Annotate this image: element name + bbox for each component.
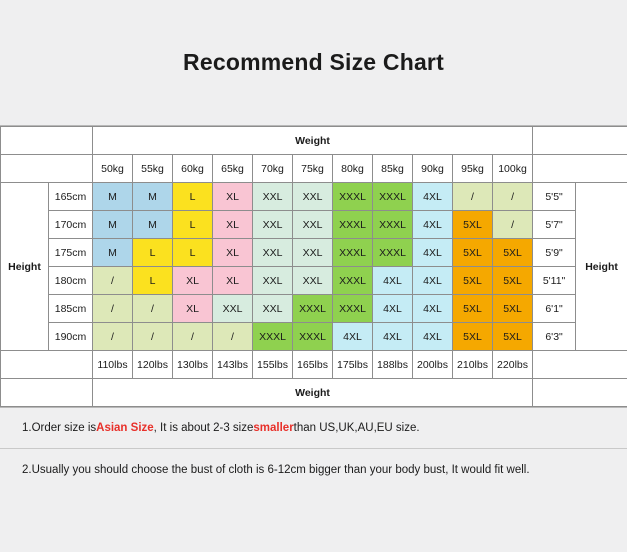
size-cell[interactable]: 5XL [453, 323, 493, 351]
size-cell[interactable]: 4XL [413, 183, 453, 211]
weight-header-bottom: Weight [93, 379, 533, 407]
weight-lbs-label: 155lbs [253, 351, 293, 379]
size-cell[interactable]: XXL [293, 267, 333, 295]
spacer-right-top [533, 127, 627, 155]
size-cell[interactable]: XXL [293, 211, 333, 239]
weight-lbs-label: 188lbs [373, 351, 413, 379]
height-cm-label: 170cm [49, 211, 93, 239]
note-item: 2. Usually you should choose the bust of… [0, 449, 627, 490]
size-cell[interactable]: XL [213, 183, 253, 211]
size-cell[interactable]: XL [213, 211, 253, 239]
size-cell[interactable]: 5XL [493, 323, 533, 351]
size-cell[interactable]: 4XL [373, 323, 413, 351]
size-cell[interactable]: XXXL [373, 183, 413, 211]
weight-lbs-label: 220lbs [493, 351, 533, 379]
size-cell[interactable]: M [93, 211, 133, 239]
weight-kg-label: 70kg [253, 155, 293, 183]
weight-footer-row: Weight [1, 379, 627, 407]
weight-lbs-label: 210lbs [453, 351, 493, 379]
size-cell[interactable]: L [173, 239, 213, 267]
weight-header-row: Weight [1, 127, 627, 155]
note-highlight: smaller [253, 422, 293, 434]
size-cell[interactable]: / [133, 295, 173, 323]
note-text: than US,UK,AU,EU size. [294, 422, 420, 434]
note-index: 1. [22, 422, 32, 434]
size-cell[interactable]: L [133, 267, 173, 295]
height-ft-label: 5'7" [533, 211, 576, 239]
size-cell[interactable]: / [93, 295, 133, 323]
height-cm-label: 185cm [49, 295, 93, 323]
size-cell[interactable]: / [493, 183, 533, 211]
size-cell[interactable]: XL [173, 267, 213, 295]
spacer-left-kg [1, 155, 93, 183]
table-row: 170cmMMLXLXXLXXLXXXLXXXL4XL5XL/5'7" [1, 211, 627, 239]
height-axis-label-right: Height [576, 183, 627, 351]
size-cell[interactable]: / [213, 323, 253, 351]
note-text: , It is about 2-3 size [154, 422, 254, 434]
weight-kg-label: 85kg [373, 155, 413, 183]
size-cell[interactable]: M [93, 183, 133, 211]
height-axis-label-left: Height [1, 183, 49, 351]
size-cell[interactable]: XXXL [293, 295, 333, 323]
weight-kg-label: 50kg [93, 155, 133, 183]
size-cell[interactable]: M [133, 183, 173, 211]
weight-lbs-label: 165lbs [293, 351, 333, 379]
size-cell[interactable]: XXL [253, 267, 293, 295]
spacer-right-lbs [533, 351, 627, 379]
height-ft-label: 5'9" [533, 239, 576, 267]
note-text: Usually you should choose the bust of cl… [32, 464, 530, 476]
title-band: Recommend Size Chart [0, 0, 627, 126]
size-cell[interactable]: L [173, 211, 213, 239]
size-cell[interactable]: / [493, 211, 533, 239]
size-cell[interactable]: XXL [253, 295, 293, 323]
table-row: Height165cmMMLXLXXLXXLXXXLXXXL4XL//5'5"H… [1, 183, 627, 211]
weight-kg-label: 60kg [173, 155, 213, 183]
height-cm-label: 175cm [49, 239, 93, 267]
table-row: 185cm//XLXXLXXLXXXLXXXL4XL4XL5XL5XL6'1" [1, 295, 627, 323]
size-cell[interactable]: L [133, 239, 173, 267]
size-cell[interactable]: / [93, 323, 133, 351]
size-cell[interactable]: 4XL [413, 267, 453, 295]
size-cell[interactable]: XXL [253, 211, 293, 239]
table-row: 175cmMLLXLXXLXXLXXXLXXXL4XL5XL5XL5'9" [1, 239, 627, 267]
size-cell[interactable]: 5XL [453, 239, 493, 267]
size-cell[interactable]: XXXL [373, 239, 413, 267]
note-highlight: Asian Size [96, 422, 154, 434]
weight-lbs-label: 200lbs [413, 351, 453, 379]
weight-kg-label: 80kg [333, 155, 373, 183]
table-row: 190cm////XXXLXXXL4XL4XL4XL5XL5XL6'3" [1, 323, 627, 351]
height-cm-label: 190cm [49, 323, 93, 351]
height-ft-label: 6'1" [533, 295, 576, 323]
spacer-left-top [1, 127, 93, 155]
weight-lbs-label: 120lbs [133, 351, 173, 379]
size-cell[interactable]: XXXL [333, 183, 373, 211]
spacer-right-kg [533, 155, 627, 183]
table-row: 180cm/LXLXLXXLXXLXXXL4XL4XL5XL5XL5'11" [1, 267, 627, 295]
size-cell[interactable]: / [173, 323, 213, 351]
size-chart-body: Weight50kg55kg60kg65kg70kg75kg80kg85kg90… [1, 127, 627, 407]
note-item: 1.Order size is Asian Size, It is about … [0, 408, 627, 449]
weight-lbs-label: 175lbs [333, 351, 373, 379]
footer-notes: 1.Order size is Asian Size, It is about … [0, 408, 627, 490]
size-cell[interactable]: / [133, 323, 173, 351]
size-cell[interactable]: 4XL [413, 211, 453, 239]
size-cell[interactable]: XXXL [333, 295, 373, 323]
size-cell[interactable]: XXL [293, 239, 333, 267]
weight-kg-label: 100kg [493, 155, 533, 183]
weight-kg-row: 50kg55kg60kg65kg70kg75kg80kg85kg90kg95kg… [1, 155, 627, 183]
size-cell[interactable]: 5XL [453, 211, 493, 239]
weight-lbs-row: 110lbs120lbs130lbs143lbs155lbs165lbs175l… [1, 351, 627, 379]
height-ft-label: 5'5" [533, 183, 576, 211]
size-cell[interactable]: XXXL [253, 323, 293, 351]
weight-kg-label: 75kg [293, 155, 333, 183]
weight-kg-label: 65kg [213, 155, 253, 183]
weight-kg-label: 55kg [133, 155, 173, 183]
weight-lbs-label: 143lbs [213, 351, 253, 379]
spacer-right-bottom [533, 379, 627, 407]
size-cell[interactable]: XL [213, 239, 253, 267]
height-cm-label: 180cm [49, 267, 93, 295]
size-chart-table-wrapper: Weight50kg55kg60kg65kg70kg75kg80kg85kg90… [0, 126, 627, 408]
height-cm-label: 165cm [49, 183, 93, 211]
size-cell[interactable]: XXXL [333, 211, 373, 239]
size-cell[interactable]: XXXL [333, 239, 373, 267]
size-cell[interactable]: 4XL [413, 323, 453, 351]
size-cell[interactable]: XXL [213, 295, 253, 323]
size-cell[interactable]: 4XL [373, 267, 413, 295]
note-index: 2. [22, 464, 32, 476]
size-cell[interactable]: 4XL [373, 295, 413, 323]
size-cell[interactable]: XXL [253, 239, 293, 267]
size-cell[interactable]: XXXL [333, 267, 373, 295]
size-cell[interactable]: / [453, 183, 493, 211]
note-text: Order size is [32, 422, 97, 434]
size-cell[interactable]: 4XL [413, 239, 453, 267]
page-title: Recommend Size Chart [183, 49, 444, 76]
size-cell[interactable]: 4XL [333, 323, 373, 351]
weight-lbs-label: 110lbs [93, 351, 133, 379]
weight-lbs-label: 130lbs [173, 351, 213, 379]
size-cell[interactable]: M [93, 239, 133, 267]
size-cell[interactable]: XXL [293, 183, 333, 211]
size-cell[interactable]: XL [213, 267, 253, 295]
size-cell[interactable]: 5XL [493, 295, 533, 323]
height-ft-label: 5'11" [533, 267, 576, 295]
size-chart-table: Weight50kg55kg60kg65kg70kg75kg80kg85kg90… [0, 126, 627, 407]
spacer-left-bottom [1, 379, 93, 407]
size-cell[interactable]: XXL [253, 183, 293, 211]
size-cell[interactable]: 5XL [453, 267, 493, 295]
weight-header-top: Weight [93, 127, 533, 155]
size-cell[interactable]: 5XL [453, 295, 493, 323]
size-cell[interactable]: / [93, 267, 133, 295]
size-cell[interactable]: XXXL [293, 323, 333, 351]
weight-kg-label: 95kg [453, 155, 493, 183]
weight-kg-label: 90kg [413, 155, 453, 183]
size-cell[interactable]: L [173, 183, 213, 211]
size-chart-page: Recommend Size Chart Weight50kg55kg60kg6… [0, 0, 627, 552]
size-cell[interactable]: 4XL [413, 295, 453, 323]
size-cell[interactable]: 5XL [493, 267, 533, 295]
spacer-left-lbs [1, 351, 93, 379]
size-cell[interactable]: M [133, 211, 173, 239]
height-ft-label: 6'3" [533, 323, 576, 351]
size-cell[interactable]: XXXL [373, 211, 413, 239]
size-cell[interactable]: XL [173, 295, 213, 323]
size-cell[interactable]: 5XL [493, 239, 533, 267]
